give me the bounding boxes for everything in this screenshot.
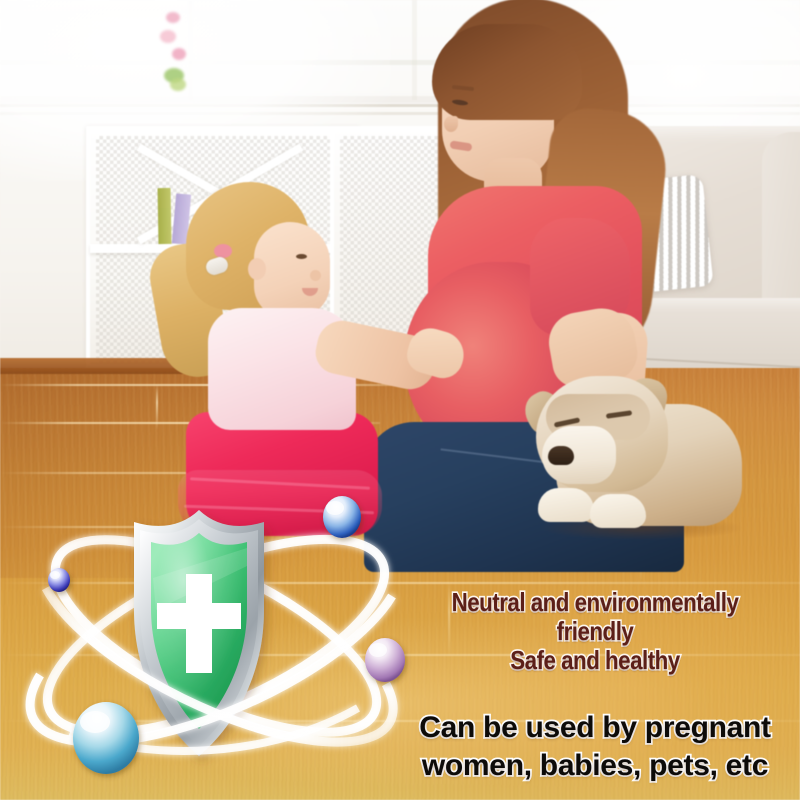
electron-left-small bbox=[48, 568, 70, 592]
husky-puppy bbox=[520, 368, 750, 558]
hanging-flower-decor bbox=[150, 8, 198, 104]
electron-top-right bbox=[323, 496, 361, 538]
marketing-copy: Neutral and environmentally friendly Saf… bbox=[395, 588, 795, 784]
subline-line-1: Can be used by pregnant bbox=[395, 709, 795, 747]
subline-line-2: women, babies, pets, etc bbox=[395, 747, 795, 785]
headline-line-1: Neutral and environmentally friendly bbox=[423, 588, 767, 646]
atom-shield-emblem bbox=[10, 470, 430, 800]
product-marketing-banner: Neutral and environmentally friendly Saf… bbox=[0, 0, 800, 800]
headline-line-2: Safe and healthy bbox=[423, 646, 767, 675]
subline-text: Can be used by pregnant women, babies, p… bbox=[395, 675, 795, 784]
electron-bottom-left-large bbox=[73, 702, 139, 774]
headline-text: Neutral and environmentally friendly Saf… bbox=[423, 588, 767, 675]
